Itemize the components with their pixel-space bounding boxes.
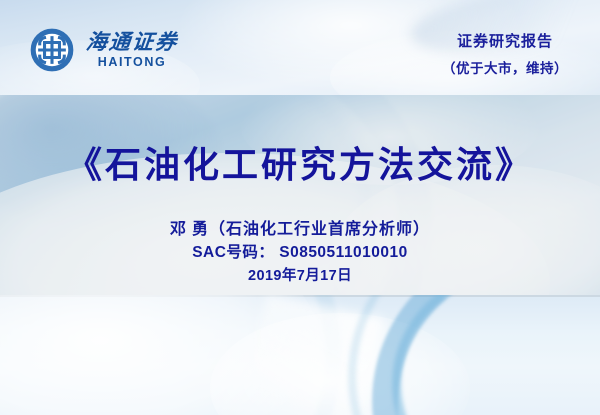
report-rating-label: （优于大市，维持） [442, 57, 568, 77]
sac-license-number: SAC号码： S0850511010010 [0, 241, 600, 265]
haitong-chinese-wordmark: 海通证券 [85, 32, 179, 53]
haitong-wordmark: 海通证券 HAITONG [86, 32, 178, 69]
presentation-title: 《石油化工研究方法交流》 [0, 147, 600, 183]
presentation-title-slide: 海通证券 HAITONG 证券研究报告 （优于大市，维持） 《石油化工研究方法交… [0, 0, 600, 415]
presentation-date: 2019年7月17日 [0, 265, 600, 288]
report-meta-block: 证券研究报告 （优于大市，维持） [442, 30, 568, 77]
haitong-emblem-icon [30, 28, 74, 72]
author-block: 邓 勇（石油化工行业首席分析师） SAC号码： S0850511010010 2… [0, 218, 600, 288]
banner-text-group: 《石油化工研究方法交流》 邓 勇（石油化工行业首席分析师） SAC号码： S08… [0, 95, 600, 295]
haitong-logo: 海通证券 HAITONG [30, 28, 178, 72]
slide-footer-artwork [0, 295, 600, 415]
haitong-english-wordmark: HAITONG [98, 56, 167, 69]
report-kind-label: 证券研究报告 [442, 30, 568, 51]
slide-title-banner: 《石油化工研究方法交流》 邓 勇（石油化工行业首席分析师） SAC号码： S08… [0, 95, 600, 295]
slide-header-band: 海通证券 HAITONG 证券研究报告 （优于大市，维持） [0, 0, 600, 95]
author-name-and-role: 邓 勇（石油化工行业首席分析师） [0, 218, 600, 241]
